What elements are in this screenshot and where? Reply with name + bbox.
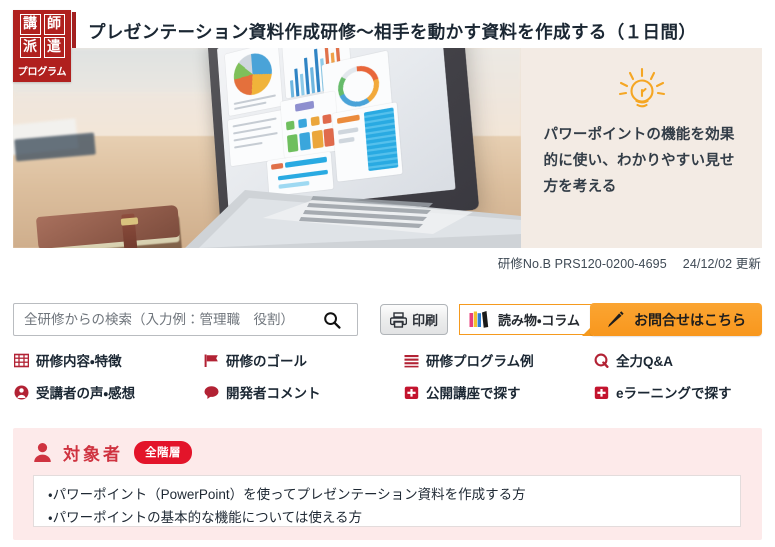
updated-date: 24/12/02 更新 [683, 257, 761, 271]
pencil-icon [606, 310, 625, 329]
nav-link-open-course[interactable]: 公開講座で探す [404, 382, 594, 402]
course-meta: 研修No.B PRS120-0200-469524/12/02 更新 [498, 253, 761, 272]
target-audience-badge: 全階層 [134, 441, 192, 464]
nav-link-label: 全力Q&A [616, 350, 673, 370]
page-title: プレゼンテーション資料作成研修～相手を動かす資料を作成する（１日間） [88, 19, 696, 44]
column-button[interactable]: 読み物・コラム [459, 304, 592, 335]
speech-bubble-icon [204, 385, 219, 400]
hero-banner: パワーポイントの機能を効果的に使い、わかりやすい見せ方を考える [13, 48, 762, 248]
target-audience-panel: 対象者 全階層 ・パワーポイント（PowerPoint）を使ってプレゼンテーショ… [13, 428, 762, 540]
course-number: 研修No.B PRS120-0200-4695 [498, 257, 667, 271]
search-input[interactable] [14, 304, 314, 335]
printer-icon [390, 312, 407, 328]
section-nav-links: 研修内容・特徴 研修のゴール 研修プログラム例 全力Q&A [14, 350, 762, 402]
books-icon [469, 311, 491, 328]
nav-link-label: 研修プログラム例 [426, 350, 534, 370]
nav-link-developer-comment[interactable]: 開発者コメント [204, 382, 404, 402]
toolbar: 印刷 読み物・コラム お問合せはこちら [13, 303, 762, 337]
search-box[interactable] [13, 303, 358, 336]
grid-icon [14, 353, 29, 368]
photo-laptop-base [13, 48, 521, 248]
nav-link-label: 開発者コメント [226, 382, 321, 402]
hero-photo [13, 48, 521, 248]
page-title-bar: プレゼンテーション資料作成研修～相手を動かす資料を作成する（１日間） [72, 12, 775, 50]
target-audience-header: 対象者 全階層 [33, 440, 192, 465]
plus-box-icon [404, 385, 419, 400]
column-button-label: 読み物・コラム [498, 310, 580, 329]
hero-side-panel: パワーポイントの機能を効果的に使い、わかりやすい見せ方を考える [521, 48, 762, 248]
contact-button-label: お問合せはこちら [634, 310, 746, 330]
logo-kanji-row-bottom: 派 遣 [20, 37, 65, 58]
nav-link-label: 研修内容・特徴 [36, 350, 122, 370]
nav-link-label: 公開講座で探す [426, 382, 521, 402]
nav-link-program-example[interactable]: 研修プログラム例 [404, 350, 594, 370]
nav-link-participant-voice[interactable]: 受講者の声・感想 [14, 382, 204, 402]
plus-box-icon [594, 385, 609, 400]
program-logo-badge[interactable]: 講 師 派 遣 プログラム [13, 10, 71, 82]
search-glyph [323, 311, 341, 329]
nav-link-course-content[interactable]: 研修内容・特徴 [14, 350, 204, 370]
logo-kanji-4: 遣 [44, 37, 65, 58]
person-icon [33, 442, 52, 463]
nav-link-course-goal[interactable]: 研修のゴール [204, 350, 404, 370]
person-circle-icon [14, 385, 29, 400]
print-button-label: 印刷 [412, 310, 438, 329]
logo-kanji-1: 講 [20, 14, 41, 35]
logo-kanji-3: 派 [20, 37, 41, 58]
logo-kanji-2: 師 [44, 14, 65, 35]
contact-button[interactable]: お問合せはこちら [590, 303, 762, 336]
list-icon [404, 353, 419, 368]
nav-link-label: eラーニングで探す [616, 382, 732, 402]
logo-kanji-row-top: 講 師 [20, 14, 65, 35]
nav-link-label: 受講者の声・感想 [36, 382, 135, 402]
target-audience-item: ・パワーポイントの基本的な機能については使える方 [48, 506, 726, 529]
target-audience-title: 対象者 [63, 440, 123, 465]
target-audience-item: ・パワーポイント（PowerPoint）を使ってプレゼンテーション資料を作成する… [48, 483, 726, 506]
course-page: プレゼンテーション資料作成研修～相手を動かす資料を作成する（１日間） 講 師 派… [0, 0, 775, 547]
nav-link-elearning[interactable]: eラーニングで探す [594, 382, 762, 402]
target-audience-list: ・パワーポイント（PowerPoint）を使ってプレゼンテーション資料を作成する… [33, 475, 741, 527]
lightbulb-icon [612, 66, 672, 114]
nav-link-full-qa[interactable]: 全力Q&A [594, 350, 762, 370]
search-icon[interactable] [314, 304, 350, 335]
print-button[interactable]: 印刷 [380, 304, 448, 335]
page-header: プレゼンテーション資料作成研修～相手を動かす資料を作成する（１日間） [0, 0, 775, 55]
flag-icon [204, 353, 219, 368]
hero-catch-copy: パワーポイントの機能を効果的に使い、わかりやすい見せ方を考える [544, 123, 740, 200]
nav-link-label: 研修のゴール [226, 350, 307, 370]
logo-subtitle: プログラム [18, 63, 67, 78]
q-icon [594, 353, 609, 368]
